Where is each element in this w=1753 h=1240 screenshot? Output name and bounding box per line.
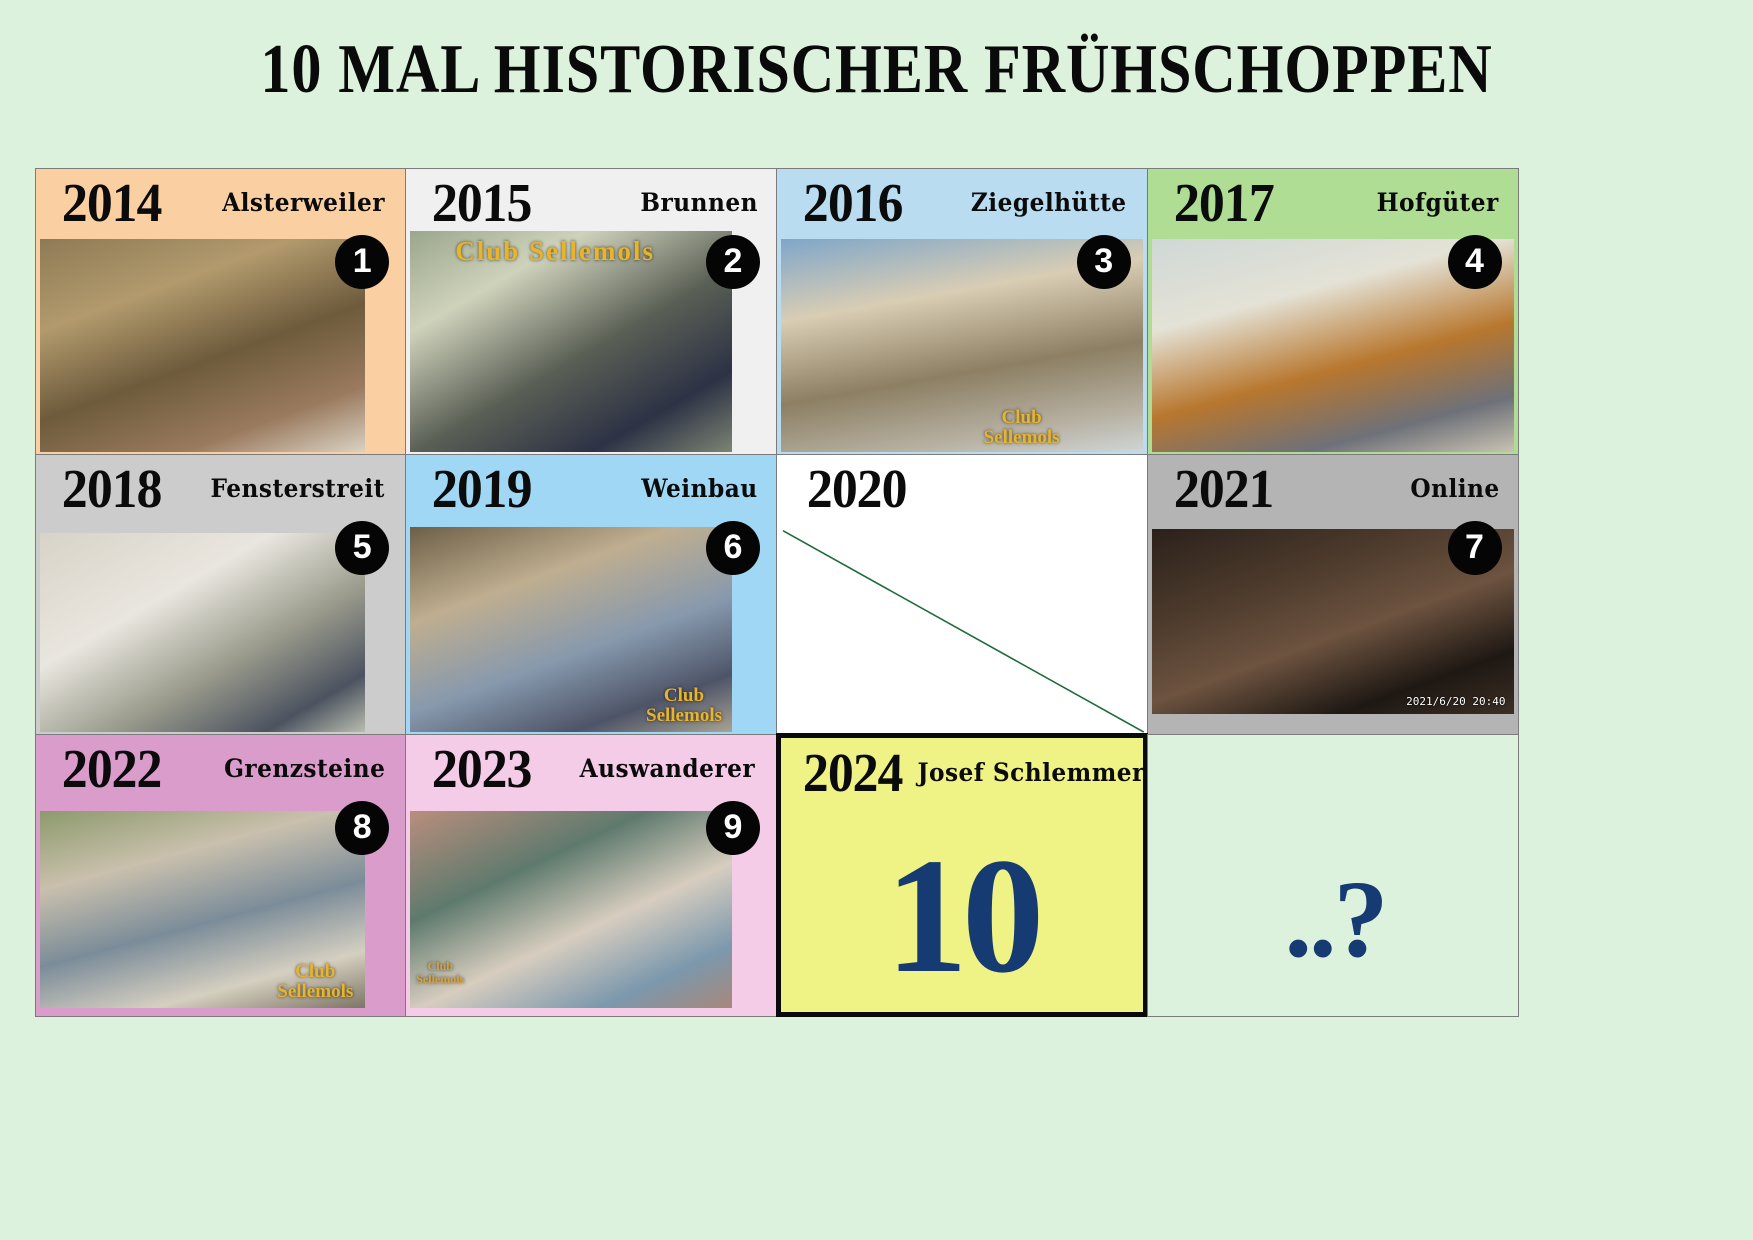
year-label: 2019: [432, 461, 533, 516]
year-cell-2023[interactable]: 2023 Auswanderer Club Sellemols 9: [405, 734, 777, 1017]
topic-label: Auswanderer: [580, 754, 755, 783]
year-cell-2022[interactable]: 2022 Grenzsteine Club Sellemols 8: [35, 734, 407, 1017]
cell-header-2023: 2023 Auswanderer: [406, 735, 776, 803]
year-cell-2015[interactable]: 2015 Brunnen Club Sellemols 2: [405, 168, 777, 455]
year-label: 2018: [61, 461, 162, 516]
cell-header-2017: 2017 Hofgüter: [1148, 169, 1518, 237]
topic-label: Weinbau: [641, 474, 757, 503]
topic-label: Online: [1411, 474, 1500, 503]
topic-label: Ziegelhütte: [971, 188, 1127, 217]
cell-header-2019: 2019 Weinbau: [406, 455, 776, 523]
year-label: 2021: [1173, 461, 1274, 516]
topic-label: Josef Schlemmer: [917, 758, 1144, 787]
event-number-badge: 6: [706, 521, 760, 575]
topic-label: Fensterstreit: [210, 474, 384, 503]
event-number-badge: 8: [335, 801, 389, 855]
year-label: 2016: [803, 175, 904, 230]
year-label: 2024: [802, 745, 903, 800]
cell-header-2014: 2014 Alsterweiler: [36, 169, 406, 237]
cell-header-2020: 2020: [777, 455, 1147, 523]
cell-header-2022: 2022 Grenzsteine: [36, 735, 406, 803]
event-photo-2014: [40, 239, 366, 452]
event-photo-2015: Club Sellemols: [410, 231, 732, 452]
photo-timestamp: 2021/6/20 20:40: [1406, 695, 1505, 708]
year-label: 2023: [432, 741, 533, 796]
year-cell-2019[interactable]: 2019 Weinbau Club Sellemols 6: [405, 454, 777, 735]
year-cell-2017[interactable]: 2017 Hofgüter 4: [1147, 168, 1519, 455]
topic-label: Alsterweiler: [222, 188, 385, 217]
event-photo-2018: [40, 533, 366, 732]
event-number-badge: 2: [706, 235, 760, 289]
cell-header-2016: 2016 Ziegelhütte: [777, 169, 1147, 237]
topic-label: Brunnen: [640, 188, 758, 217]
year-cell-2020-cancelled[interactable]: 2020: [776, 454, 1148, 735]
event-photo-2022: Club Sellemols: [40, 811, 366, 1008]
cell-header-2018: 2018 Fensterstreit: [36, 455, 406, 523]
year-cell-future[interactable]: ..?: [1147, 734, 1519, 1017]
year-label: 2022: [61, 741, 162, 796]
year-label: 2014: [61, 175, 162, 230]
topic-label: Grenzsteine: [224, 754, 385, 783]
event-number-badge: 3: [1077, 235, 1131, 289]
year-label: 2020: [807, 461, 908, 516]
event-number-badge: 9: [706, 801, 760, 855]
event-number-badge: 1: [335, 235, 389, 289]
event-number-badge: 4: [1448, 235, 1502, 289]
page-title: 10 MAL HISTORISCHER FRÜHSCHOPPEN: [123, 30, 1631, 110]
cell-header-2015: 2015 Brunnen: [406, 169, 776, 237]
year-cell-2018[interactable]: 2018 Fensterstreit 5: [35, 454, 407, 735]
topic-label: Hofgüter: [1377, 188, 1499, 217]
year-label: 2017: [1173, 175, 1274, 230]
year-grid: 2014 Alsterweiler 1 2015 Brunnen Club Se…: [35, 168, 1518, 1016]
future-question-mark: ..?: [1285, 864, 1386, 974]
year-cell-2021[interactable]: 2021 Online 2021/6/20 20:40 7: [1147, 454, 1519, 735]
anniversary-number: 10: [781, 833, 1144, 998]
event-number-badge: 7: [1448, 521, 1502, 575]
event-number-badge: 5: [335, 521, 389, 575]
poster-canvas: 10 MAL HISTORISCHER FRÜHSCHOPPEN 2014 Al…: [0, 0, 1753, 1240]
year-cell-2016[interactable]: 2016 Ziegelhütte Club Sellemols 3: [776, 168, 1148, 455]
cell-header-2021: 2021 Online: [1148, 455, 1518, 523]
event-photo-2019: Club Sellemols: [410, 527, 732, 732]
year-label: 2015: [432, 175, 533, 230]
year-cell-2014[interactable]: 2014 Alsterweiler 1: [35, 168, 407, 455]
year-cell-2024-anniversary[interactable]: 2024 Josef Schlemmer 10: [776, 733, 1149, 1017]
event-photo-2023: Club Sellemols: [410, 811, 732, 1008]
cell-header-2024: 2024 Josef Schlemmer: [781, 738, 1144, 806]
